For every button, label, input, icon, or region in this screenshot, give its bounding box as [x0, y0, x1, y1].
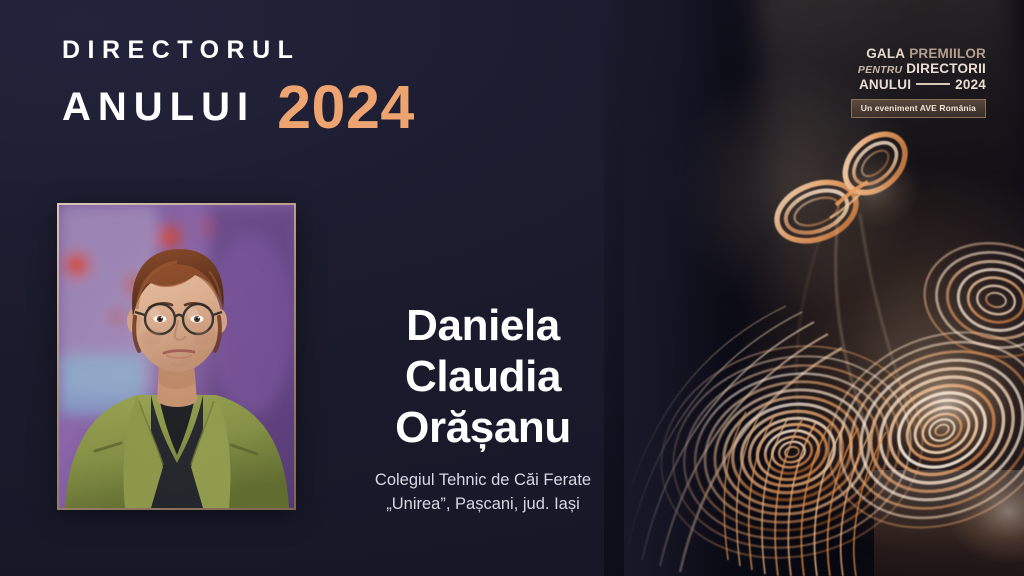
- person-school: Colegiul Tehnic de Căi Ferate „Unirea”, …: [318, 469, 648, 516]
- wordmark-year: 2024: [277, 77, 415, 138]
- event-logo-pentru: PENTRU: [858, 64, 902, 76]
- wordmark-row-anului-year: ANULUI 2024: [62, 69, 415, 130]
- person-name-line-3: Orășanu: [318, 402, 648, 453]
- event-logo-line-2: PENTRU DIRECTORII: [840, 61, 986, 77]
- event-logo-line-1: GALA PREMIILOR: [840, 46, 986, 61]
- event-logo-rule: [916, 83, 950, 85]
- person-block: Daniela Claudia Orășanu Colegiul Tehnic …: [318, 300, 648, 516]
- person-school-line-1: Colegiul Tehnic de Căi Ferate: [318, 469, 648, 492]
- person-school-line-2: „Unirea”, Pașcani, jud. Iași: [318, 493, 648, 516]
- wordmark-line-directorul: DIRECTORUL: [62, 38, 415, 63]
- event-logo-anului: ANULUI: [859, 77, 911, 92]
- event-wordmark: DIRECTORUL ANULUI 2024: [62, 38, 415, 130]
- event-logo-line-3: ANULUI 2024: [840, 77, 986, 92]
- person-name-line-1: Daniela: [318, 300, 648, 351]
- person-name: Daniela Claudia Orășanu: [318, 300, 648, 453]
- award-slide: DIRECTORUL ANULUI 2024 GALA PREMIILOR PE…: [0, 0, 1024, 576]
- person-name-line-2: Claudia: [318, 351, 648, 402]
- event-logo-directorii: DIRECTORII: [906, 61, 986, 76]
- event-logo-badge: Un eveniment AVE România: [851, 99, 986, 118]
- portrait-photo: [59, 205, 294, 508]
- portrait-frame: [57, 203, 296, 510]
- wordmark-line-anului: ANULUI: [62, 87, 255, 127]
- event-logo: GALA PREMIILOR PENTRU DIRECTORII ANULUI …: [840, 46, 986, 118]
- event-logo-year: 2024: [955, 77, 986, 92]
- event-logo-gala: GALA: [866, 46, 905, 61]
- event-logo-premiilor: PREMIILOR: [909, 46, 986, 61]
